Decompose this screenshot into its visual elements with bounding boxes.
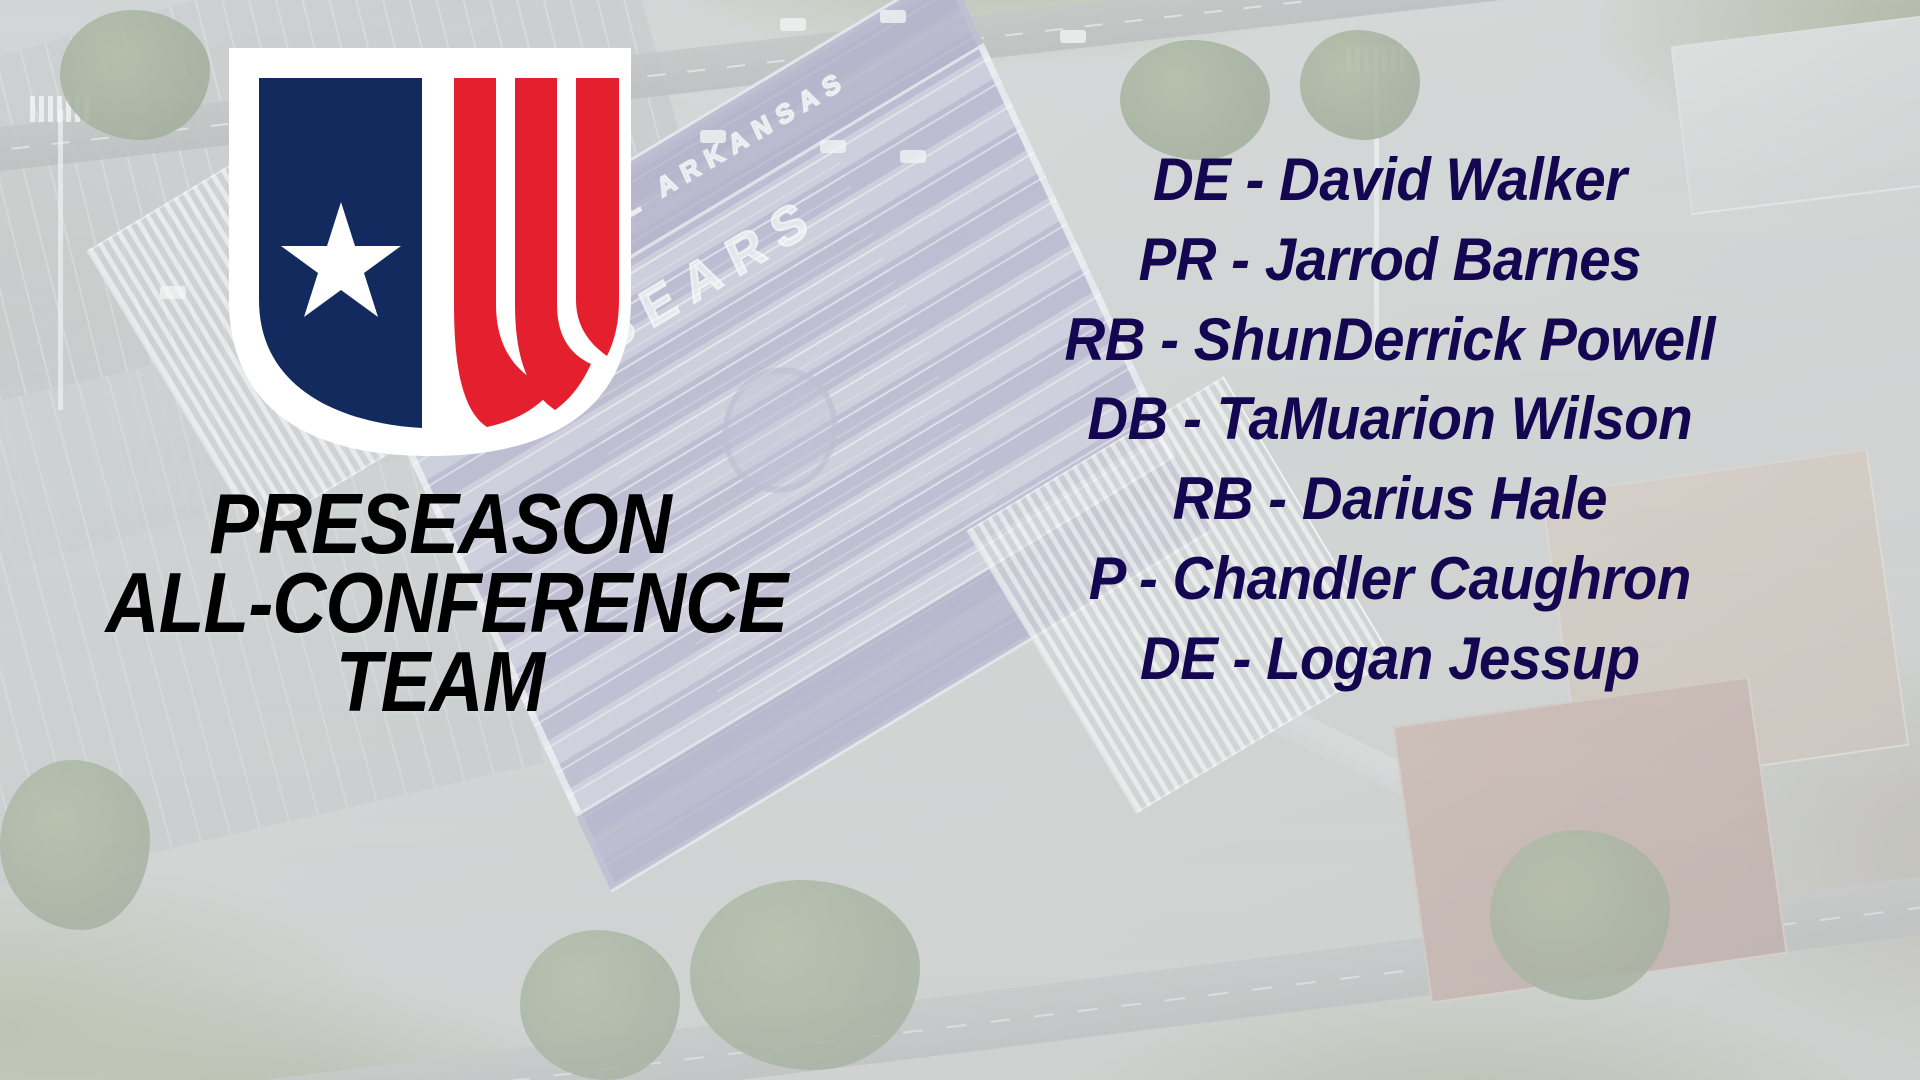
roster-item: PR - Jarrod Barnes: [892, 220, 1888, 300]
graphic-canvas: CENTRAL ARKANSAS BEARS: [0, 0, 1920, 1080]
roster-item: RB - ShunDerrick Powell: [892, 300, 1888, 380]
roster-item: DE - Logan Jessup: [892, 619, 1888, 699]
roster-item: DE - David Walker: [892, 140, 1888, 220]
headline-block: PRESEASON ALL-CONFERENCE TEAM: [106, 485, 775, 722]
roster-item: RB - Darius Hale: [892, 459, 1888, 539]
logo-red-stripe-outer: [576, 78, 619, 356]
headline-line-3: TEAM: [106, 643, 775, 722]
roster-list: DE - David Walker PR - Jarrod Barnes RB …: [892, 140, 1888, 699]
roster-item: P - Chandler Caughron: [892, 539, 1888, 619]
headline-line-1: PRESEASON: [106, 485, 775, 564]
conference-logo: [215, 42, 645, 462]
overlay-content: PRESEASON ALL-CONFERENCE TEAM DE - David…: [0, 0, 1920, 1080]
roster-item: DB - TaMuarion Wilson: [892, 379, 1888, 459]
headline-line-2: ALL-CONFERENCE: [106, 564, 775, 643]
